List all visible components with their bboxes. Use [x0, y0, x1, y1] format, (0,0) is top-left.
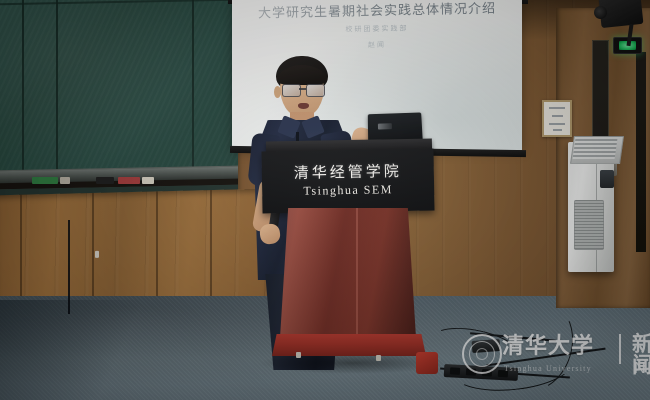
wall-notice — [542, 100, 572, 137]
watermark-university-chinese: 清华大学 — [502, 336, 594, 358]
chalk-stick — [142, 177, 154, 184]
lecture-hall-photo: 大学研究生暑期社会实践总体情况介绍 校研团委实践部 赵闻 — [0, 0, 650, 400]
power-socket — [450, 367, 460, 375]
trouser-seam — [68, 220, 70, 314]
tsinghua-seal-icon — [462, 334, 502, 374]
ac-control-panel[interactable] — [600, 170, 614, 188]
podium-foot — [376, 355, 381, 361]
slide-subtitle-presenter: 赵闻 — [232, 37, 522, 52]
watermark-university-english: Tsinghua University — [504, 364, 592, 373]
podium-body — [280, 208, 416, 338]
cabinet-knob — [95, 251, 99, 258]
notice-text-line — [549, 123, 565, 125]
podium-edge-highlight — [356, 208, 358, 338]
notice-text-line — [549, 107, 565, 109]
chalkboard-surface — [0, 0, 238, 172]
glasses-bridge — [299, 88, 306, 90]
camera-lens-icon — [594, 6, 607, 19]
podium-sign-english: Tsinghua SEM — [303, 182, 393, 199]
slide-subtitle-org: 校研团委实践部 — [232, 21, 522, 36]
chalk-eraser — [32, 177, 58, 184]
notice-text-line — [552, 115, 563, 117]
news-watermark: 清华大学 Tsinghua University 新闻 NEWS — [462, 324, 647, 386]
speaker-mouth — [298, 103, 309, 109]
chalk-stick — [60, 177, 70, 184]
watermark-section-english: NEWS — [634, 360, 650, 378]
door-glass-panel — [636, 52, 646, 252]
chalk-eraser — [96, 177, 114, 184]
chalkboard-seam — [22, 0, 24, 172]
eyeglasses-icon — [282, 84, 324, 95]
podium-sign-chinese: 清华经管学院 — [294, 163, 402, 181]
floor-shadow — [0, 300, 160, 400]
panel-seam — [210, 190, 212, 312]
red-equipment-case — [416, 352, 438, 374]
podium-nameplate: 清华经管学院 Tsinghua SEM — [261, 149, 434, 214]
podium-foot — [296, 352, 301, 358]
chalkboard-seam — [192, 0, 194, 169]
slide-title: 大学研究生暑期社会实践总体情况介绍 — [232, 0, 522, 22]
chalkboard — [0, 0, 238, 199]
glasses-lens — [306, 84, 325, 97]
ac-intake-grille — [574, 200, 604, 250]
chalk-eraser — [118, 177, 140, 184]
glasses-lens — [282, 84, 301, 97]
watermark-divider — [619, 334, 621, 364]
ac-louvers — [573, 139, 618, 159]
laptop-logo — [378, 123, 392, 129]
notice-text-line — [553, 129, 562, 131]
speaker-ear — [274, 86, 281, 98]
chalkboard-seam — [56, 0, 58, 171]
